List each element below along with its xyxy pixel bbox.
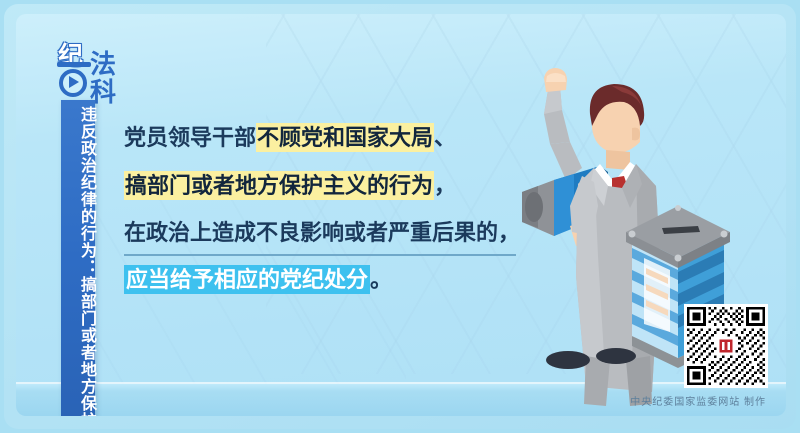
text-line-2: 搞部门或者地方保护主义的行为， xyxy=(124,162,524,210)
poster-root: 纪 法 科 违反政治纪律的行为：搞部门或者地方保护主义 党员领导干部不顾党和国家… xyxy=(0,0,800,433)
logo-jifa-baike[interactable]: 纪 法 科 xyxy=(54,36,140,108)
main-text-block: 党员领导干部不顾党和国家大局、 搞部门或者地方保护主义的行为， 在政治上造成不良… xyxy=(124,114,524,304)
line1-plain-end: 、 xyxy=(434,125,456,150)
line1-highlight-yellow: 不顾党和国家大局 xyxy=(256,123,434,152)
text-line-3: 在政治上造成不良影响或者严重后果的， xyxy=(124,210,516,256)
text-line-1: 党员领导干部不顾党和国家大局、 xyxy=(124,114,524,162)
poster-inner-panel: 纪 法 科 违反政治纪律的行为：搞部门或者地方保护主义 党员领导干部不顾党和国家… xyxy=(16,14,786,416)
line3-underlined: 在政治上造成不良影响或者严重后果的， xyxy=(124,220,520,245)
line4-highlight-blue: 应当给予相应的党纪处分 xyxy=(124,265,370,294)
line1-plain-start: 党员领导干部 xyxy=(124,125,256,150)
qr-code-image xyxy=(687,307,765,385)
credit-text: 中央纪委国家监委网站 制作 xyxy=(630,393,766,408)
vertical-banner-title: 违反政治纪律的行为：搞部门或者地方保护主义 xyxy=(61,100,95,416)
logo-char-bai-with-play-icon xyxy=(56,62,92,98)
line2-plain-end: ， xyxy=(434,173,456,198)
line2-highlight-yellow: 搞部门或者地方保护主义的行为 xyxy=(124,171,434,200)
qr-code[interactable] xyxy=(684,304,768,388)
qr-center-logo-icon xyxy=(719,339,732,352)
logo-bai-top-bar xyxy=(57,62,91,67)
text-line-4: 应当给予相应的党纪处分。 xyxy=(124,256,524,304)
play-triangle-icon xyxy=(69,76,79,88)
line4-plain-end: 。 xyxy=(370,267,392,292)
